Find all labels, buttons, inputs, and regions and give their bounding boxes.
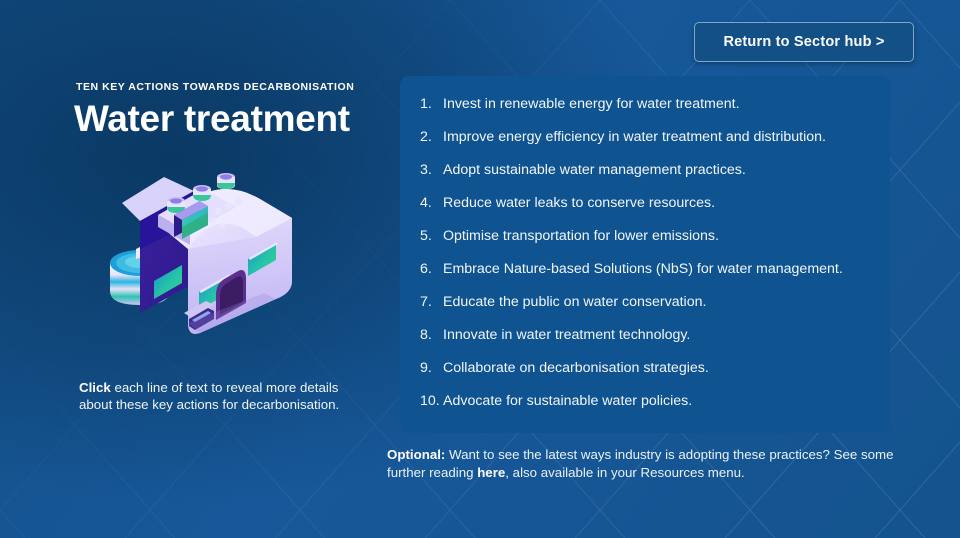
- action-item-text: Embrace Nature-based Solutions (NbS) for…: [443, 261, 874, 277]
- optional-text-second: , also available in your Resources menu.: [505, 465, 744, 480]
- slide-root: Return to Sector hub > TEN KEY ACTIONS T…: [0, 0, 960, 538]
- action-item[interactable]: 9.Collaborate on decarbonisation strateg…: [420, 360, 874, 376]
- action-item-text: Collaborate on decarbonisation strategie…: [443, 360, 874, 376]
- click-hint-rest: each line of text to reveal more details…: [79, 380, 339, 412]
- action-item-number: 7.: [420, 294, 443, 310]
- action-item[interactable]: 6.Embrace Nature-based Solutions (NbS) f…: [420, 261, 874, 277]
- action-item-text: Adopt sustainable water management pract…: [443, 162, 874, 178]
- action-item-number: 8.: [420, 327, 443, 343]
- action-item-number: 5.: [420, 228, 443, 244]
- action-item-number: 9.: [420, 360, 443, 376]
- actions-list: 1.Invest in renewable energy for water t…: [400, 76, 890, 409]
- action-item-text: Reduce water leaks to conserve resources…: [443, 195, 874, 211]
- action-item-text: Innovate in water treatment technology.: [443, 327, 874, 343]
- action-item[interactable]: 8.Innovate in water treatment technology…: [420, 327, 874, 343]
- water-treatment-plant-illustration: [96, 163, 312, 353]
- actions-panel: 1.Invest in renewable energy for water t…: [400, 76, 890, 433]
- action-item[interactable]: 3.Adopt sustainable water management pra…: [420, 162, 874, 178]
- further-reading-link[interactable]: here: [477, 465, 505, 480]
- eyebrow-label: TEN KEY ACTIONS TOWARDS DECARBONISATION: [76, 81, 354, 93]
- action-item-number: 6.: [420, 261, 443, 277]
- action-item-text: Invest in renewable energy for water tre…: [443, 96, 874, 112]
- action-item[interactable]: 10.Advocate for sustainable water polici…: [420, 393, 874, 409]
- click-hint-text: Click each line of text to reveal more d…: [79, 379, 357, 413]
- action-item-text: Optimise transportation for lower emissi…: [443, 228, 874, 244]
- action-item-number: 1.: [420, 96, 443, 112]
- action-item-text: Advocate for sustainable water policies.: [443, 393, 874, 409]
- page-title: Water treatment: [74, 98, 350, 140]
- action-item-number: 2.: [420, 129, 443, 145]
- return-to-sector-hub-label: Return to Sector hub >: [723, 34, 884, 50]
- return-to-sector-hub-button[interactable]: Return to Sector hub >: [694, 22, 914, 62]
- click-hint-bold: Click: [79, 380, 111, 395]
- action-item[interactable]: 5.Optimise transportation for lower emis…: [420, 228, 874, 244]
- action-item-number: 4.: [420, 195, 443, 211]
- action-item[interactable]: 4.Reduce water leaks to conserve resourc…: [420, 195, 874, 211]
- action-item-text: Improve energy efficiency in water treat…: [443, 129, 874, 145]
- action-item-number: 3.: [420, 162, 443, 178]
- action-item-text: Educate the public on water conservation…: [443, 294, 874, 310]
- optional-note: Optional: Want to see the latest ways in…: [387, 446, 917, 481]
- optional-label: Optional:: [387, 447, 445, 462]
- action-item[interactable]: 2.Improve energy efficiency in water tre…: [420, 129, 874, 145]
- action-item[interactable]: 7.Educate the public on water conservati…: [420, 294, 874, 310]
- action-item[interactable]: 1.Invest in renewable energy for water t…: [420, 96, 874, 112]
- action-item-number: 10.: [420, 393, 443, 409]
